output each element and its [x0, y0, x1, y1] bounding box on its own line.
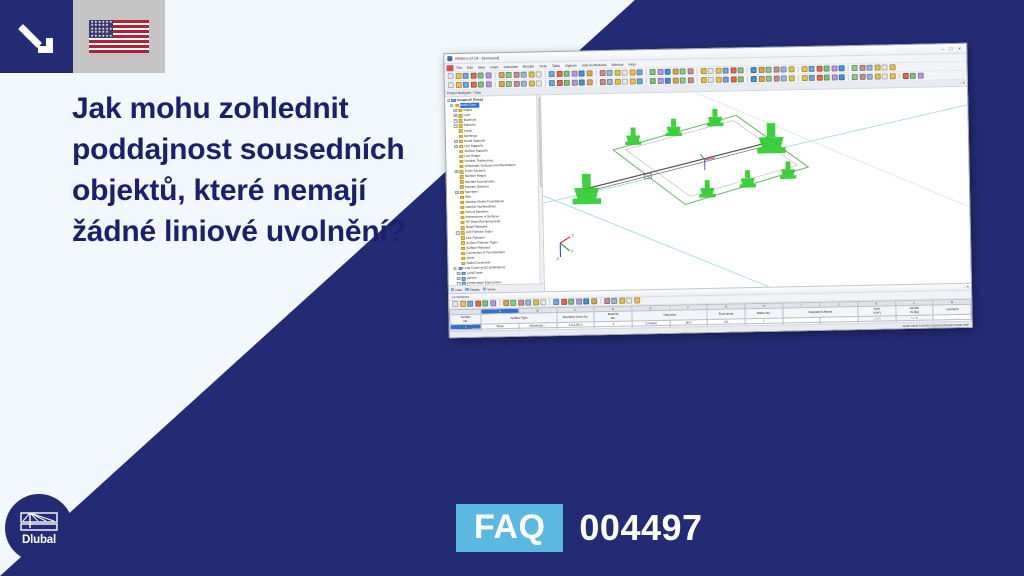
toolbar-button-44[interactable]	[766, 67, 772, 73]
tree-spacer	[457, 252, 460, 255]
tree-spacer	[455, 186, 458, 189]
toolbar-button-14[interactable]	[549, 71, 555, 77]
toolbar-button-42[interactable]	[751, 76, 757, 82]
toolbar-separator	[646, 69, 647, 75]
toolbar-button-40[interactable]	[738, 67, 744, 73]
toolbar-button-10[interactable]	[521, 72, 527, 78]
toolbar-button-33[interactable]	[687, 68, 693, 74]
toolbar-separator	[595, 70, 596, 76]
navigator-title-label: Project Navigator - Data	[447, 91, 481, 96]
toolbar-button-15[interactable]	[561, 299, 567, 305]
maximize-icon[interactable]: ☐	[949, 46, 953, 51]
faq-badge: FAQ	[456, 504, 563, 552]
toolbar-button-39[interactable]	[730, 67, 736, 73]
toolbar-button-0[interactable]	[448, 73, 454, 79]
navigator-tab-label: Display	[470, 287, 480, 291]
table-caption-buttons[interactable]: – ✕	[964, 285, 969, 289]
svg-text:Y: Y	[571, 249, 574, 254]
collapse-icon[interactable]: –	[447, 99, 450, 102]
toolbar-button-40[interactable]	[738, 76, 744, 82]
folder-icon	[460, 226, 464, 229]
navigator-tab-views[interactable]: Views	[483, 287, 496, 291]
toolbar-button-51[interactable]	[816, 75, 822, 81]
toolbar-button-7[interactable]	[503, 300, 509, 306]
folder-icon	[459, 160, 463, 163]
toolbar-button-22[interactable]	[607, 79, 613, 85]
collapse-icon[interactable]: –	[454, 267, 457, 270]
folder-icon	[460, 201, 464, 204]
language-flag-badge[interactable]: ★★★★★★★★★★★★★★★★★★★★★★★★★★★★	[73, 0, 165, 73]
folder-icon	[461, 246, 465, 249]
toolbar-button-52[interactable]	[824, 75, 830, 81]
close-icon[interactable]: ✕	[958, 46, 961, 51]
toolbar-separator	[898, 73, 899, 79]
toolbar-button-8[interactable]	[506, 72, 512, 78]
folder-icon	[461, 241, 465, 244]
collapse-icon[interactable]: –	[450, 104, 453, 107]
toolbar-button-46[interactable]	[781, 75, 787, 81]
toolbar-button-23[interactable]	[619, 298, 625, 304]
app-icon	[447, 56, 452, 61]
toolbar-button-54[interactable]	[839, 65, 845, 71]
folder-icon	[459, 170, 463, 173]
folder-icon	[458, 267, 462, 270]
toolbar-button-7[interactable]	[498, 72, 504, 78]
toolbar-button-11[interactable]	[533, 299, 539, 305]
folder-icon	[458, 124, 462, 127]
toolbar-separator	[848, 65, 849, 71]
toolbar-button-56[interactable]	[852, 74, 858, 80]
tree-spacer	[454, 130, 457, 133]
table-caption-label: 1.4 Surfaces	[451, 295, 469, 299]
toolbar-button-38[interactable]	[723, 68, 729, 74]
toolbar-button-2[interactable]	[467, 301, 473, 307]
toolbar-button-36[interactable]	[708, 68, 714, 74]
toolbar-button-61[interactable]	[889, 73, 895, 79]
toolbar-button-35[interactable]	[700, 68, 706, 74]
toolbar-button-35[interactable]	[700, 77, 706, 83]
rfem-application-window: RFEM 5.07.04 - [Unnamed] – ☐ ✕ FileEditV…	[443, 43, 973, 338]
toolbar-button-1[interactable]	[455, 82, 461, 88]
toolbar-separator	[646, 78, 647, 84]
folder-icon	[460, 196, 464, 199]
toolbar-button-5[interactable]	[485, 81, 491, 87]
toolbar-button-16[interactable]	[564, 71, 570, 77]
toolbar-button-32[interactable]	[680, 77, 686, 83]
toolbar-button-42[interactable]	[751, 67, 757, 73]
minimize-icon[interactable]: –	[942, 46, 944, 51]
toolbar-button-45[interactable]	[773, 76, 779, 82]
tree-spacer	[455, 196, 458, 199]
toolbar-button-60[interactable]	[882, 73, 888, 79]
tree-spacer	[456, 242, 459, 245]
expand-icon[interactable]: +	[457, 272, 460, 275]
folder-icon	[461, 231, 465, 234]
folder-icon	[459, 134, 463, 137]
toolbar-separator	[545, 80, 546, 86]
toolbar-button-60[interactable]	[882, 64, 888, 70]
toolbar-button-24[interactable]	[626, 298, 632, 304]
menu-item-options[interactable]: Options	[565, 63, 577, 67]
toolbar-button-10[interactable]	[525, 300, 531, 306]
toolbar-button-10[interactable]	[521, 81, 527, 87]
toolbar-separator	[494, 72, 495, 78]
toolbar-button-4[interactable]	[478, 72, 484, 78]
folder-icon	[460, 190, 464, 193]
faq-number: 004497	[579, 510, 702, 546]
menu-item-view[interactable]: View	[478, 65, 485, 69]
expand-icon[interactable]: +	[455, 191, 458, 194]
toolbar-button-29[interactable]	[657, 69, 663, 75]
toolbar-button-57[interactable]	[859, 65, 865, 71]
toolbar-button-57[interactable]	[859, 74, 865, 80]
toolbar-separator	[600, 298, 601, 304]
toolbar-button-64[interactable]	[910, 73, 916, 79]
window-controls[interactable]: – ☐ ✕	[942, 46, 963, 51]
expand-icon[interactable]: +	[454, 124, 457, 127]
folder-icon	[460, 185, 464, 188]
toolbar-separator	[696, 68, 697, 74]
arrow-down-right-icon	[20, 20, 54, 54]
toolbar-button-22[interactable]	[611, 298, 617, 304]
toolbar-button-54[interactable]	[839, 74, 845, 80]
tab-icon	[465, 288, 468, 291]
toolbar-button-0[interactable]	[448, 82, 454, 88]
toolbar-button-8[interactable]	[510, 300, 516, 306]
toolbar-button-53[interactable]	[831, 74, 837, 80]
tree-spacer	[455, 165, 458, 168]
toolbar-button-29[interactable]	[657, 78, 663, 84]
tree-spacer	[455, 150, 458, 153]
toolbar-button-25[interactable]	[634, 297, 640, 303]
faq-footer: FAQ 004497	[456, 504, 703, 552]
toolbar-button-9[interactable]	[513, 72, 519, 78]
navigator-tree[interactable]: –Unnamed* [Temp]–Model Data+Nodes+Lines+…	[445, 95, 545, 293]
navigator-panel-buttons[interactable]: – ✕	[960, 81, 965, 85]
svg-text:Z: Z	[556, 256, 559, 261]
expand-icon[interactable]: +	[457, 277, 460, 280]
toolbar-button-5[interactable]	[485, 72, 491, 78]
toolbar-button-38[interactable]	[723, 77, 729, 83]
toolbar-button-44[interactable]	[766, 76, 772, 82]
toolbar-button-37[interactable]	[715, 77, 721, 83]
menu-grip-icon	[446, 65, 453, 71]
svg-text:X: X	[571, 233, 574, 238]
expand-icon[interactable]: +	[454, 145, 457, 148]
toolbar-button-2[interactable]	[463, 82, 469, 88]
folder-icon	[459, 140, 463, 143]
expand-icon[interactable]: +	[454, 114, 457, 117]
toolbar-button-3[interactable]	[470, 73, 476, 79]
toolbar-button-50[interactable]	[809, 66, 815, 72]
toolbar-button-36[interactable]	[708, 77, 714, 83]
toolbar-button-47[interactable]	[788, 66, 794, 72]
toolbar-separator	[747, 76, 748, 82]
toolbar-separator	[494, 81, 495, 87]
toolbar-button-30[interactable]	[665, 78, 671, 84]
tree-spacer	[456, 206, 459, 209]
toolbar-button-1[interactable]	[455, 73, 461, 79]
toolbar-button-15[interactable]	[556, 71, 562, 77]
toolbar-separator	[747, 67, 748, 73]
toolbar-button-9[interactable]	[518, 300, 524, 306]
toolbar-button-1[interactable]	[460, 301, 466, 307]
toolbar-button-16[interactable]	[568, 299, 574, 305]
status-right: SNAP GRID CARTES OSNAP DXSNAP GLINE GRP	[903, 322, 972, 327]
folder-icon	[461, 262, 465, 265]
toolbar-button-24[interactable]	[622, 79, 628, 85]
toolbar-button-8[interactable]	[506, 81, 512, 87]
tree-spacer	[454, 135, 457, 138]
folder-icon	[459, 145, 463, 148]
logo-wordmark: Dlubal	[22, 534, 56, 546]
truss-frame-icon	[20, 510, 58, 532]
folder-icon	[460, 216, 464, 219]
folder-icon	[460, 221, 464, 224]
folder-icon	[459, 165, 463, 168]
toolbar-button-33[interactable]	[687, 77, 693, 83]
toolbar-button-65[interactable]	[917, 73, 923, 79]
folder-icon	[461, 252, 465, 255]
arrow-down-right-badge	[0, 0, 73, 73]
toolbar-button-19[interactable]	[586, 70, 592, 76]
toolbar-button-53[interactable]	[831, 65, 837, 71]
toolbar-button-22[interactable]	[607, 70, 613, 76]
toolbar-button-2[interactable]	[463, 73, 469, 79]
folder-icon	[461, 257, 465, 260]
toolbar-button-37[interactable]	[715, 68, 721, 74]
expand-icon[interactable]: +	[454, 119, 457, 122]
toolbar-button-30[interactable]	[665, 69, 671, 75]
toolbar-button-4[interactable]	[482, 300, 488, 306]
usa-flag-icon: ★★★★★★★★★★★★★★★★★★★★★★★★★★★★	[89, 20, 149, 53]
folder-icon	[460, 180, 464, 183]
toolbar-button-45[interactable]	[773, 67, 779, 73]
toolbar-button-63[interactable]	[902, 73, 908, 79]
tree-spacer	[457, 257, 460, 260]
toolbar-button-61[interactable]	[889, 64, 895, 70]
toolbar-button-24[interactable]	[622, 70, 628, 76]
toolbar-button-46[interactable]	[781, 66, 787, 72]
toolbar-button-15[interactable]	[556, 80, 562, 86]
toolbar-button-25[interactable]	[629, 69, 635, 75]
toolbar-button-28[interactable]	[650, 69, 656, 75]
toolbar-button-21[interactable]	[599, 79, 605, 85]
toolbar-button-58[interactable]	[867, 74, 873, 80]
toolbar-button-5[interactable]	[490, 300, 496, 306]
toolbar-button-47[interactable]	[788, 75, 794, 81]
tab-icon	[483, 287, 486, 290]
toolbar-button-19[interactable]	[586, 79, 592, 85]
navigator-tab-display[interactable]: Display	[465, 287, 480, 291]
toolbar-button-21[interactable]	[604, 298, 610, 304]
toolbar-button-43[interactable]	[758, 76, 764, 82]
folder-icon	[461, 277, 465, 280]
toolbar-separator	[696, 77, 697, 83]
navigator-tab-data[interactable]: Data	[451, 287, 462, 291]
expand-icon[interactable]: +	[454, 109, 457, 112]
toolbar-button-18[interactable]	[583, 298, 589, 304]
toolbar-separator	[499, 300, 500, 306]
navigator-tab-label: Views	[487, 287, 495, 291]
tree-spacer	[456, 216, 459, 219]
menu-item-table[interactable]: Table	[552, 63, 560, 67]
3d-model-render: X Y Z	[541, 87, 971, 292]
toolbar-button-31[interactable]	[672, 78, 678, 84]
menu-item-window[interactable]: Window	[611, 62, 623, 66]
tree-spacer	[456, 247, 459, 250]
menu-item-results[interactable]: Results	[523, 64, 534, 68]
toolbar-button-51[interactable]	[816, 66, 822, 72]
toolbar-button-17[interactable]	[571, 80, 577, 86]
model-viewport[interactable]: X Y Z	[541, 87, 971, 292]
menu-item-edit[interactable]: Edit	[467, 65, 473, 69]
toolbar-button-9[interactable]	[513, 81, 519, 87]
folder-icon	[461, 272, 465, 275]
folder-icon	[459, 175, 463, 178]
toolbar-button-18[interactable]	[579, 70, 585, 76]
folder-icon	[455, 104, 459, 107]
tree-spacer	[456, 236, 459, 239]
toolbar-button-49[interactable]	[801, 66, 807, 72]
tree-spacer	[456, 211, 459, 214]
toolbar-button-52[interactable]	[824, 66, 830, 72]
toolbar-button-32[interactable]	[680, 68, 686, 74]
folder-icon	[461, 236, 465, 239]
toolbar-button-7[interactable]	[498, 81, 504, 87]
menu-item-calculate[interactable]: Calculate	[504, 64, 518, 68]
toolbar-button-21[interactable]	[599, 70, 605, 76]
menu-item-file[interactable]: File	[456, 65, 462, 69]
toolbar-separator	[549, 299, 550, 305]
toolbar-button-3[interactable]	[470, 82, 476, 88]
toolbar-button-14[interactable]	[549, 80, 555, 86]
folder-icon	[458, 109, 462, 112]
toolbar-separator	[797, 66, 798, 72]
page-title: Jak mohu zohlednit poddajnost sousedních…	[72, 88, 422, 252]
toolbar-button-17[interactable]	[571, 71, 577, 77]
expand-icon[interactable]: +	[455, 170, 458, 173]
project-navigator[interactable]: –Unnamed* [Temp]–Model Data+Nodes+Lines+…	[445, 95, 545, 293]
toolbar-button-59[interactable]	[874, 65, 880, 71]
column-header: SurfaceNo.	[450, 314, 481, 324]
toolbar-button-56[interactable]	[852, 65, 858, 71]
expand-icon[interactable]: +	[454, 140, 457, 143]
folder-icon	[460, 206, 464, 209]
tree-spacer	[455, 155, 458, 158]
toolbar-button-28[interactable]	[650, 78, 656, 84]
toolbar-button-18[interactable]	[579, 79, 585, 85]
toolbar-separator	[545, 71, 546, 77]
toolbar-button-3[interactable]	[475, 301, 481, 307]
menu-item-add-on-modules[interactable]: Add-on Modules	[582, 63, 607, 67]
toolbar-button-50[interactable]	[809, 75, 815, 81]
toolbar-button-17[interactable]	[576, 299, 582, 305]
folder-icon	[458, 129, 462, 132]
toolbar-button-59[interactable]	[874, 74, 880, 80]
folder-icon	[458, 119, 462, 122]
toolbar-button-11[interactable]	[528, 71, 534, 77]
toolbar-button-11[interactable]	[528, 80, 534, 86]
toolbar-button-49[interactable]	[801, 75, 807, 81]
navigator-tab-label: Data	[455, 287, 462, 291]
toolbar-button-4[interactable]	[478, 81, 484, 87]
folder-icon	[459, 150, 463, 153]
dlubal-logo[interactable]: Dlubal	[5, 494, 73, 562]
menu-item-insert[interactable]: Insert	[490, 65, 499, 69]
folder-icon	[459, 155, 463, 158]
toolbar-button-19[interactable]	[591, 298, 597, 304]
toolbar-button-43[interactable]	[758, 67, 764, 73]
toolbar-separator	[797, 75, 798, 81]
toolbar-button-23[interactable]	[614, 79, 620, 85]
toolbar-button-58[interactable]	[867, 65, 873, 71]
toolbar-button-14[interactable]	[553, 299, 559, 305]
folder-icon	[460, 211, 464, 214]
toolbar-button-25[interactable]	[629, 78, 635, 84]
toolbar-button-31[interactable]	[672, 69, 678, 75]
toolbar-button-12[interactable]	[536, 71, 542, 77]
toolbar-button-16[interactable]	[564, 80, 570, 86]
faq-slide: ★★★★★★★★★★★★★★★★★★★★★★★★★★★★ Jak mohu zo…	[0, 0, 1024, 576]
tree-spacer	[456, 226, 459, 229]
tree-spacer	[455, 180, 458, 183]
toolbar-button-39[interactable]	[730, 76, 736, 82]
menu-item-tools[interactable]: Tools	[539, 64, 547, 68]
toolbar-separator	[595, 79, 596, 85]
toolbar-button-12[interactable]	[540, 299, 546, 305]
expand-icon[interactable]: +	[456, 231, 459, 234]
toolbar-button-26[interactable]	[637, 78, 643, 84]
tab-icon	[451, 288, 454, 291]
folder-icon	[458, 114, 462, 117]
menu-item-help[interactable]: Help	[628, 62, 635, 66]
toolbar-button-0[interactable]	[452, 301, 458, 307]
tree-spacer	[456, 221, 459, 224]
tree-spacer	[457, 262, 460, 265]
tree-spacer	[456, 201, 459, 204]
toolbar-button-12[interactable]	[536, 80, 542, 86]
folder-icon	[451, 99, 455, 102]
toolbar-button-26[interactable]	[637, 69, 643, 75]
tree-spacer	[455, 175, 458, 178]
tree-spacer	[455, 160, 458, 163]
toolbar-separator	[848, 74, 849, 80]
toolbar-button-23[interactable]	[614, 70, 620, 76]
